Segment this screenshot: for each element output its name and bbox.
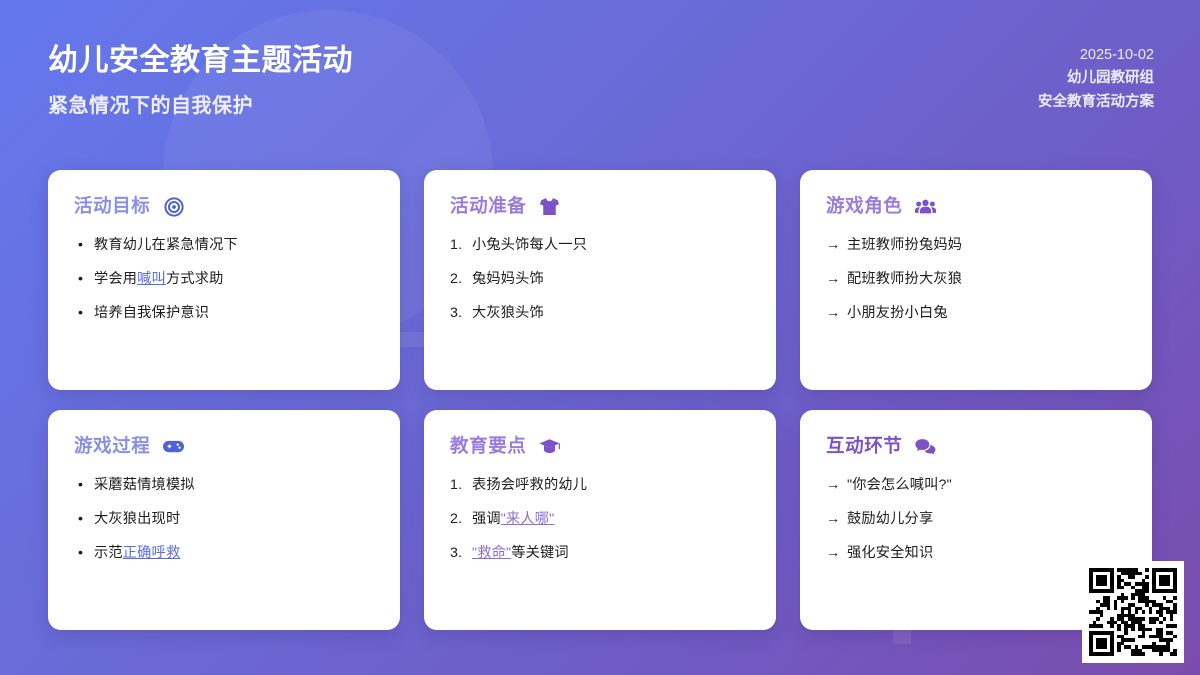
list-item-text: 强调"来人哪" [472, 510, 750, 530]
text-run: 小朋友扮小白兔 [847, 305, 948, 321]
card-header: 游戏过程 [74, 436, 374, 457]
list-item: •采蘑菇情境模拟 [74, 476, 374, 496]
people-group-icon [915, 196, 936, 217]
text-run: 教育幼儿在紧急情况下 [94, 237, 238, 253]
text-run: 示范 [94, 545, 123, 561]
text-run: 大灰狼头饰 [472, 305, 544, 321]
list-item-text: "救命"等关键词 [472, 544, 750, 564]
arrow-icon: → [826, 236, 847, 256]
card-3: 游戏角色→主班教师扮兔妈妈→配班教师扮大灰狼→小朋友扮小白兔 [800, 170, 1152, 390]
list-item-text: 小朋友扮小白兔 [847, 304, 1126, 324]
list-marker-bullet: • [74, 236, 94, 256]
card-1: 活动目标•教育幼儿在紧急情况下•学会用喊叫方式求助•培养自我保护意识 [48, 170, 400, 390]
qr-code[interactable] [1082, 561, 1184, 663]
inline-link[interactable]: "来人哪" [501, 511, 555, 527]
text-run: 强化安全知识 [847, 545, 933, 561]
list-item-text: 小兔头饰每人一只 [472, 236, 750, 256]
list-marker-number: 3. [450, 544, 472, 564]
list-item-text: 主班教师扮兔妈妈 [847, 236, 1126, 256]
text-run: 小兔头饰每人一只 [472, 237, 587, 253]
card-title: 游戏角色 [826, 196, 902, 216]
card-header: 活动准备 [450, 196, 750, 217]
list-item: →"你会怎么喊叫?" [826, 476, 1126, 496]
text-run: 兔妈妈头饰 [472, 271, 544, 287]
card-title: 活动目标 [74, 196, 150, 216]
card-header: 互动环节 [826, 436, 1126, 457]
text-run: 主班教师扮兔妈妈 [847, 237, 962, 253]
chat-bubbles-icon [915, 436, 936, 457]
list-item-text: 大灰狼头饰 [472, 304, 750, 324]
list-item: 1.小兔头饰每人一只 [450, 236, 750, 256]
list-marker-number: 1. [450, 476, 472, 496]
text-run: "你会怎么喊叫?" [847, 477, 952, 493]
list-item: •学会用喊叫方式求助 [74, 270, 374, 290]
list-item: 3."救命"等关键词 [450, 544, 750, 564]
card-title: 互动环节 [826, 436, 902, 456]
list-item: →主班教师扮兔妈妈 [826, 236, 1126, 256]
list-item-text: 表扬会呼救的幼儿 [472, 476, 750, 496]
list-marker-number: 2. [450, 270, 472, 290]
list-item: •示范正确呼救 [74, 544, 374, 564]
list-item: →小朋友扮小白兔 [826, 304, 1126, 324]
header-org: 幼儿园教研组 [1038, 67, 1154, 90]
list-item-text: 配班教师扮大灰狼 [847, 270, 1126, 290]
qr-code-pattern [1089, 568, 1177, 656]
list-item: •教育幼儿在紧急情况下 [74, 236, 374, 256]
list-item-text: 学会用喊叫方式求助 [94, 270, 374, 290]
list-marker-number: 3. [450, 304, 472, 324]
card-header: 教育要点 [450, 436, 750, 457]
list-marker-bullet: • [74, 304, 94, 324]
card-list: 1.表扬会呼救的幼儿2.强调"来人哪"3."救命"等关键词 [450, 476, 750, 564]
list-marker-number: 1. [450, 236, 472, 256]
text-run: 等关键词 [511, 545, 569, 561]
list-item-text: 教育幼儿在紧急情况下 [94, 236, 374, 256]
list-item: 2.兔妈妈头饰 [450, 270, 750, 290]
header-date: 2025-10-02 [1038, 44, 1154, 67]
card-list: •采蘑菇情境模拟•大灰狼出现时•示范正确呼救 [74, 476, 374, 564]
page-subtitle: 紧急情况下的自我保护 [48, 89, 353, 118]
list-item: →强化安全知识 [826, 544, 1126, 564]
list-item-text: 培养自我保护意识 [94, 304, 374, 324]
card-4: 游戏过程•采蘑菇情境模拟•大灰狼出现时•示范正确呼救 [48, 410, 400, 630]
inline-link[interactable]: 喊叫 [137, 271, 166, 287]
list-item-text: 大灰狼出现时 [94, 510, 374, 530]
text-run: 学会用 [94, 271, 137, 287]
header-meta-block: 2025-10-02 幼儿园教研组 安全教育活动方案 [1038, 42, 1154, 114]
card-grid: 活动目标•教育幼儿在紧急情况下•学会用喊叫方式求助•培养自我保护意识活动准备1.… [48, 170, 1152, 630]
list-item-text: 鼓励幼儿分享 [847, 510, 1126, 530]
list-marker-bullet: • [74, 510, 94, 530]
list-marker-bullet: • [74, 544, 94, 564]
text-run: 方式求助 [166, 271, 224, 287]
text-run: 鼓励幼儿分享 [847, 511, 933, 527]
inline-link[interactable]: "救命" [472, 545, 511, 561]
header-title-block: 幼儿安全教育主题活动 紧急情况下的自我保护 [48, 42, 353, 118]
card-header: 活动目标 [74, 196, 374, 217]
list-item: 2.强调"来人哪" [450, 510, 750, 530]
text-run: 强调 [472, 511, 501, 527]
arrow-icon: → [826, 304, 847, 324]
list-item-text: "你会怎么喊叫?" [847, 476, 1126, 496]
graduation-cap-icon [539, 436, 560, 457]
list-item: →配班教师扮大灰狼 [826, 270, 1126, 290]
arrow-icon: → [826, 270, 847, 290]
card-title: 游戏过程 [74, 436, 150, 456]
card-title: 活动准备 [450, 196, 526, 216]
list-item: 3.大灰狼头饰 [450, 304, 750, 324]
list-item: 1.表扬会呼救的幼儿 [450, 476, 750, 496]
inline-link[interactable]: 正确呼救 [123, 545, 181, 561]
slide-header: 幼儿安全教育主题活动 紧急情况下的自我保护 2025-10-02 幼儿园教研组 … [0, 0, 1200, 150]
tshirt-icon [539, 196, 560, 217]
list-item-text: 兔妈妈头饰 [472, 270, 750, 290]
arrow-icon: → [826, 510, 847, 530]
card-list: 1.小兔头饰每人一只2.兔妈妈头饰3.大灰狼头饰 [450, 236, 750, 324]
arrow-icon: → [826, 544, 847, 564]
text-run: 培养自我保护意识 [94, 305, 209, 321]
text-run: 配班教师扮大灰狼 [847, 271, 962, 287]
card-header: 游戏角色 [826, 196, 1126, 217]
arrow-icon: → [826, 476, 847, 496]
list-marker-bullet: • [74, 270, 94, 290]
text-run: 表扬会呼救的幼儿 [472, 477, 587, 493]
page-title: 幼儿安全教育主题活动 [48, 42, 353, 80]
list-marker-number: 2. [450, 510, 472, 530]
header-doc-type: 安全教育活动方案 [1038, 91, 1154, 114]
text-run: 大灰狼出现时 [94, 511, 180, 527]
card-list: →"你会怎么喊叫?"→鼓励幼儿分享→强化安全知识 [826, 476, 1126, 564]
card-list: →主班教师扮兔妈妈→配班教师扮大灰狼→小朋友扮小白兔 [826, 236, 1126, 324]
list-item: •大灰狼出现时 [74, 510, 374, 530]
card-list: •教育幼儿在紧急情况下•学会用喊叫方式求助•培养自我保护意识 [74, 236, 374, 324]
list-item: →鼓励幼儿分享 [826, 510, 1126, 530]
card-title: 教育要点 [450, 436, 526, 456]
list-item-text: 示范正确呼救 [94, 544, 374, 564]
text-run: 采蘑菇情境模拟 [94, 477, 195, 493]
list-marker-bullet: • [74, 476, 94, 496]
card-5: 教育要点1.表扬会呼救的幼儿2.强调"来人哪"3."救命"等关键词 [424, 410, 776, 630]
decorative-square [893, 628, 911, 644]
card-2: 活动准备1.小兔头饰每人一只2.兔妈妈头饰3.大灰狼头饰 [424, 170, 776, 390]
gamepad-icon [163, 436, 184, 457]
list-item: •培养自我保护意识 [74, 304, 374, 324]
list-item-text: 采蘑菇情境模拟 [94, 476, 374, 496]
target-icon [163, 196, 184, 217]
